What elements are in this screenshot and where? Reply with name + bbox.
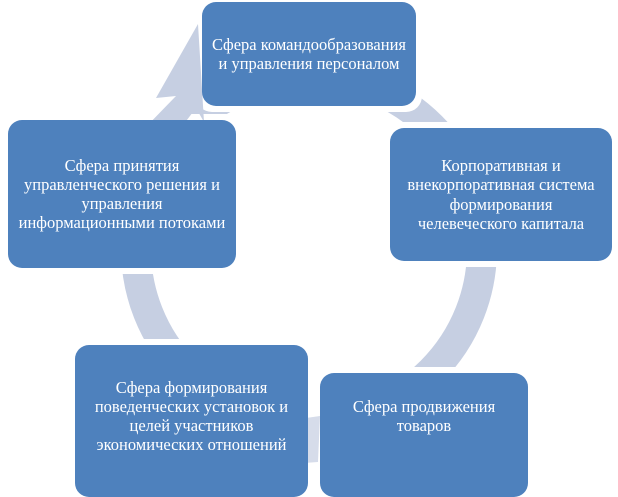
cycle-node-top-label: Сфера командообразования и управления пе… (210, 35, 408, 73)
cycle-node-left[interactable]: Сфера принятия управленческого решения и… (8, 120, 236, 268)
cycle-node-right[interactable]: Корпоративная и внекорпоративная система… (390, 128, 612, 261)
cycle-node-left-label: Сфера принятия управленческого решения и… (16, 156, 228, 233)
cycle-node-bottom-left[interactable]: Сфера формирования поведенческих установ… (75, 345, 308, 497)
cycle-node-bottom-right[interactable]: Сфера продвижения товаров (320, 373, 528, 497)
cycle-node-bottom-right-label: Сфера продвижения товаров (328, 397, 520, 435)
cycle-node-top[interactable]: Сфера командообразования и управления пе… (202, 2, 416, 106)
diagram-canvas: Сфера командообразования и управления пе… (0, 0, 618, 497)
cycle-node-bottom-left-label: Сфера формирования поведенческих установ… (83, 378, 300, 455)
cycle-node-right-label: Корпоративная и внекорпоративная система… (398, 156, 604, 233)
